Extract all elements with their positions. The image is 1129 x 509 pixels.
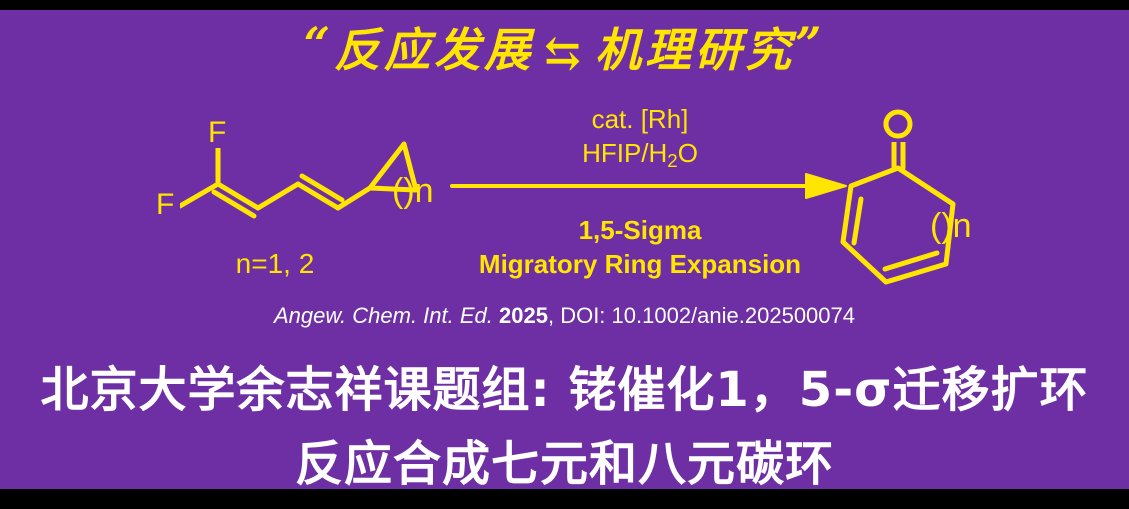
substrate-paren-open: ( bbox=[392, 172, 403, 210]
arrow-condition-catalyst: cat. [Rh] bbox=[440, 104, 840, 135]
arrow-mechanism-line1: 1,5-Sigma bbox=[440, 215, 840, 246]
cn-title-line2: 反应合成七元和八元碳环 bbox=[0, 424, 1129, 494]
page-title: “反应发展⇆机理研究” bbox=[0, 14, 1129, 80]
arrow-mechanism-line2: Migratory Ring Expansion bbox=[418, 249, 862, 280]
title-left-text: 反应发展 bbox=[334, 23, 534, 77]
product-paren-close-n: )n bbox=[941, 207, 971, 245]
product-repeat-notation: ()n bbox=[930, 207, 972, 246]
solvent-tail: O bbox=[678, 138, 698, 168]
letterbox-bottom bbox=[0, 489, 1129, 509]
substrate-fluorine-bottom-label: F bbox=[156, 188, 174, 221]
substrate-n-label: n=1, 2 bbox=[160, 248, 390, 280]
reaction-arrow bbox=[452, 174, 846, 198]
title-right-text: 机理研究 bbox=[595, 23, 795, 77]
substrate-fluorine-top-label: F bbox=[208, 116, 226, 149]
open-quote: “ bbox=[304, 17, 334, 71]
arrow-condition-solvent: HFIP/H2O bbox=[440, 138, 840, 172]
cn-title-line1: 北京大学余志祥课题组: 铑催化1，5-σ迁移扩环 bbox=[0, 350, 1129, 420]
substrate-structure bbox=[180, 144, 416, 216]
bidirectional-arrow-icon: ⇆ bbox=[534, 28, 595, 79]
poster-root: “反应发展⇆机理研究” bbox=[0, 0, 1129, 509]
letterbox-top bbox=[0, 0, 1129, 10]
citation-doi: , DOI: 10.1002/anie.202500074 bbox=[548, 303, 855, 328]
close-quote: ” bbox=[795, 17, 825, 71]
citation-journal: Angew. Chem. Int. Ed. bbox=[274, 303, 493, 328]
product-paren-open: ( bbox=[930, 207, 941, 245]
substrate-paren-close-n: )n bbox=[403, 172, 433, 210]
solvent-subscript: 2 bbox=[667, 150, 677, 171]
citation-year: 2025 bbox=[499, 303, 548, 328]
citation: Angew. Chem. Int. Ed. 2025, DOI: 10.1002… bbox=[0, 303, 1129, 329]
solvent-main: HFIP/H bbox=[582, 138, 667, 168]
substrate-repeat-notation: ()n bbox=[392, 172, 434, 211]
